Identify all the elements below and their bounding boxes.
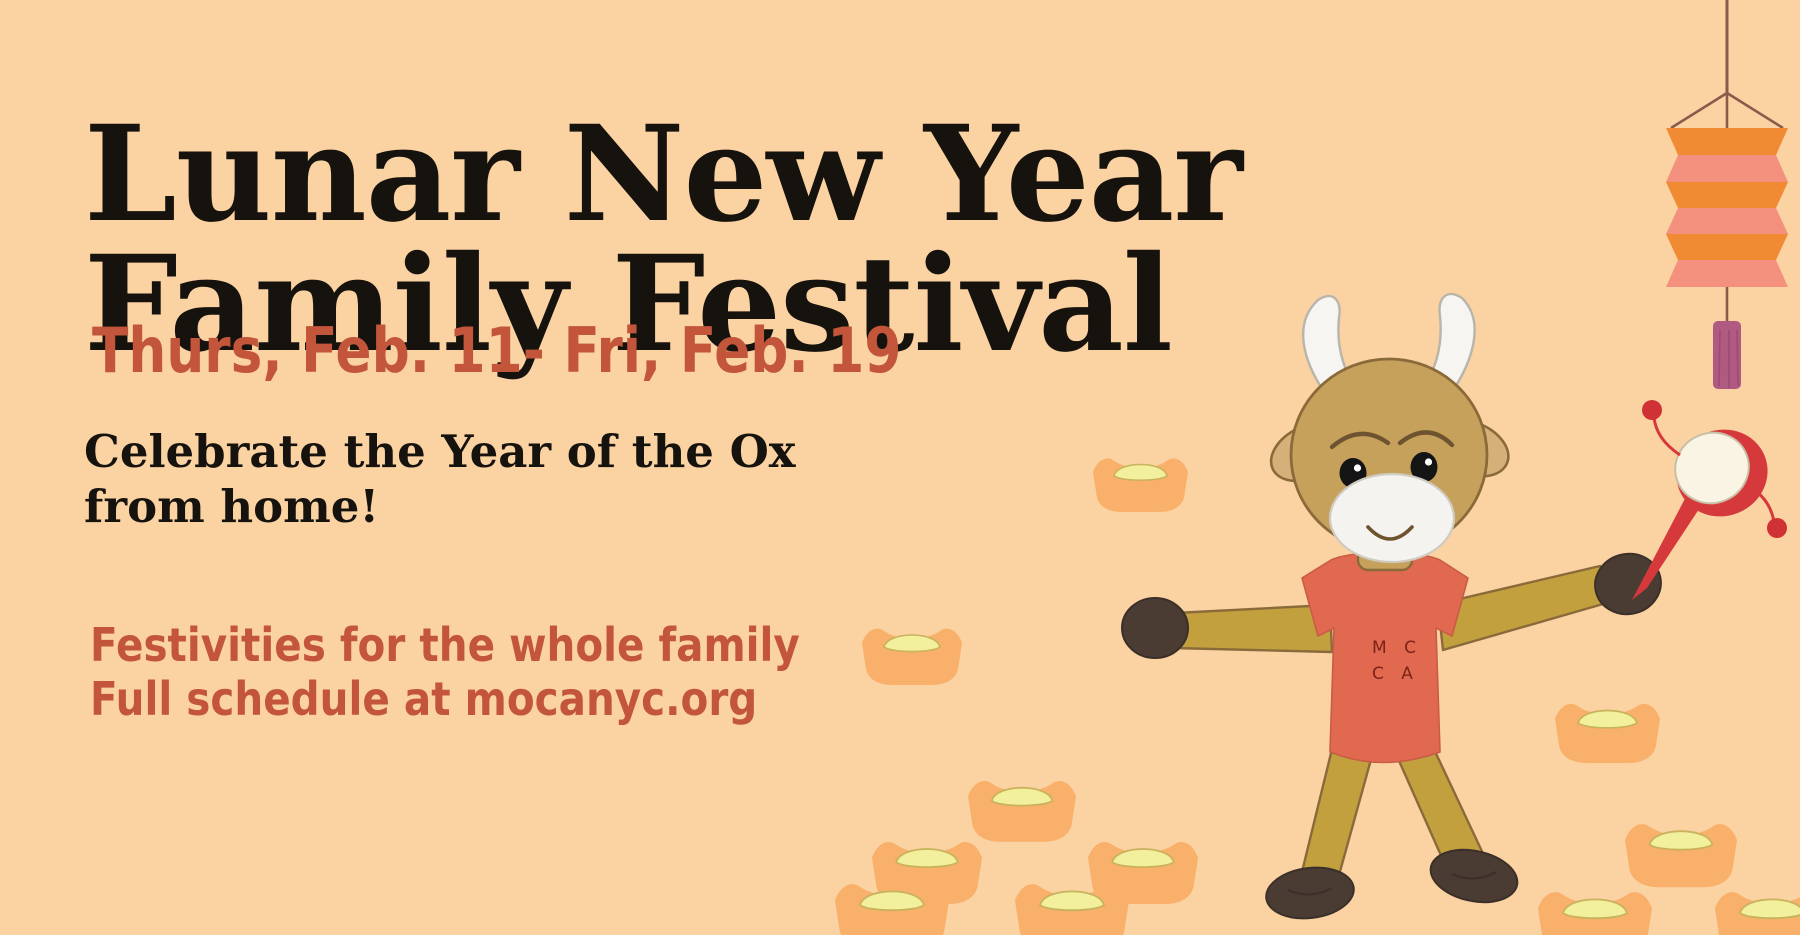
lunar-new-year-poster: Lunar New Year Family Festival Thurs, Fe…	[0, 0, 1800, 935]
subhead-line-1: Celebrate the Year of the Ox	[84, 425, 984, 480]
details-line-2: Full schedule at mocanyc.org	[90, 672, 800, 726]
mocanyc-shirt-monogram: M C C A	[1372, 635, 1422, 688]
subhead-line-2: from home!	[84, 480, 984, 535]
details-line-1: Festivities for the whole family	[90, 618, 800, 672]
title-line-1: Lunar New Year	[84, 110, 1404, 239]
event-details: Festivities for the whole family Full sc…	[90, 618, 800, 727]
shirt-monogram-line-1: M C	[1372, 635, 1422, 661]
event-date-range: Thurs, Feb. 11- Fri, Feb. 19	[92, 320, 901, 382]
poster-text-layer: Lunar New Year Family Festival Thurs, Fe…	[0, 0, 1800, 935]
event-subheading: Celebrate the Year of the Ox from home!	[84, 425, 984, 535]
shirt-monogram-line-2: C A	[1372, 661, 1422, 687]
